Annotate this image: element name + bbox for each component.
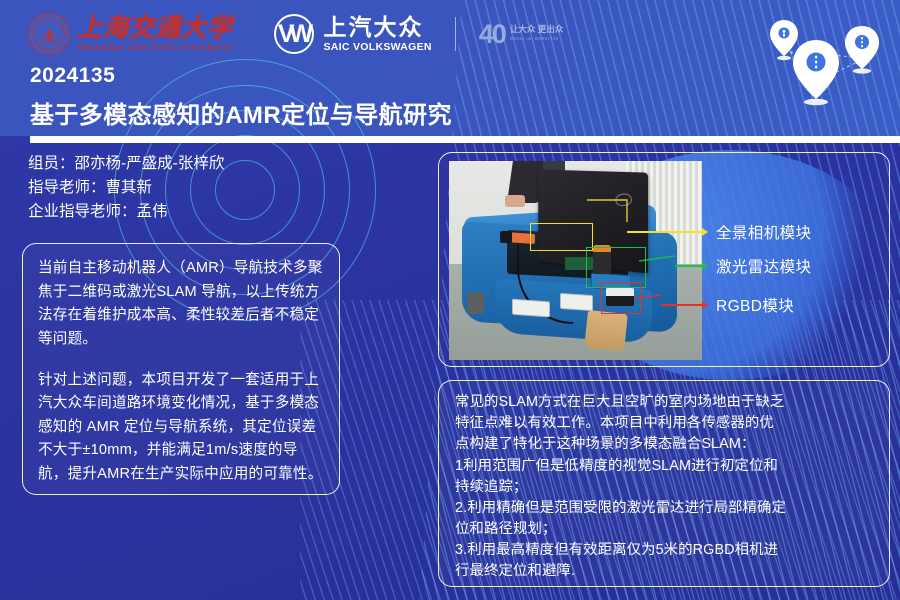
method-text-box: 常见的SLAM方式在巨大且空旷的室内场地由于缺乏 特征点难以有效工作。本项目中利… xyxy=(438,380,890,587)
team-members-block: 组员：邵亦杨-严盛成-张梓欣 指导老师：曹其新 企业指导老师：孟伟 xyxy=(28,152,224,224)
method-line-3: 点构建了特化于这种场景的多模态融合SLAM： xyxy=(455,434,875,455)
map-pin-small-top xyxy=(770,20,798,60)
map-pin-medium-right xyxy=(845,26,879,74)
sjtu-wordmark: 上海交通大学 SHANGHAI JIAO TONG UNIVERSITY xyxy=(77,16,234,51)
sjtu-seal-icon xyxy=(28,13,70,55)
project-title: 基于多模态感知的AMR定位与导航研究 xyxy=(30,95,452,130)
method-line-7: 位和路径规划； xyxy=(455,519,875,540)
arrow-head-green-icon xyxy=(702,262,708,270)
annotation-panoramic-camera: 全景相机模块 xyxy=(627,221,811,243)
header-divider-line xyxy=(30,136,900,143)
sjtu-name-cn: 上海交通大学 xyxy=(77,16,234,41)
panoramic-camera-box xyxy=(530,223,593,251)
vw-name-en: SAIC VOLKSWAGEN xyxy=(323,42,431,53)
members-line-3: 企业指导老师：孟伟 xyxy=(28,200,224,224)
photo-slot-2 xyxy=(560,293,593,311)
photo-person-ankle xyxy=(505,195,525,207)
vw-monogram: VW xyxy=(278,22,308,47)
annotation-rgbd: RGBD模块 xyxy=(661,294,794,316)
arrow-head-yellow-icon xyxy=(702,228,708,236)
photo-slot-1 xyxy=(512,299,550,318)
abstract-paragraph-2: 针对上述问题，本项目开发了一套适用于上汽大众车间道路环境变化情况，基于多模态感知… xyxy=(38,369,325,487)
sjtu-logo: 上海交通大学 SHANGHAI JIAO TONG UNIVERSITY xyxy=(28,13,234,55)
map-pin-large-center xyxy=(793,40,839,105)
poster-canvas: 上海交通大学 SHANGHAI JIAO TONG UNIVERSITY VW … xyxy=(0,0,900,600)
method-line-2: 特征点难以有效工作。本项目中利用各传感器的优 xyxy=(455,413,875,434)
method-line-1: 常见的SLAM方式在巨大且空旷的室内场地由于缺乏 xyxy=(455,392,875,413)
project-number: 2024135 xyxy=(30,64,115,88)
members-line-2: 指导老师：曹其新 xyxy=(28,176,224,200)
photo-wooden-block xyxy=(584,310,628,352)
sjtu-name-en: SHANGHAI JIAO TONG UNIVERSITY xyxy=(77,44,234,51)
photo-wheel xyxy=(467,292,485,314)
amr-robot-photo xyxy=(449,161,702,360)
method-line-8: 3.利用最高精度但有效距离仅为5米的RGBD相机进 xyxy=(455,540,875,561)
saic-vw-logo: VW 上汽大众 SAIC VOLKSWAGEN 40 让大众 更出众 Bette… xyxy=(274,14,563,54)
anniversary-number: 40 xyxy=(479,19,505,50)
method-line-4: 1利用范围广但是低精度的视觉SLAM进行初定位和 xyxy=(455,456,875,477)
vw-wordmark: 上汽大众 SAIC VOLKSWAGEN xyxy=(323,15,431,52)
method-line-6: 2.利用精确但是范围受限的激光雷达进行局部精确定 xyxy=(455,498,875,519)
annotation-label-lidar: 激光雷达模块 xyxy=(716,255,811,277)
logo-divider xyxy=(455,17,456,51)
leader-line-green xyxy=(675,265,703,267)
photo-panoramic-camera xyxy=(500,231,513,243)
rog-logo-icon xyxy=(614,192,633,207)
leader-line-red xyxy=(661,304,703,306)
annotation-label-panoramic-camera: 全景相机模块 xyxy=(716,221,811,243)
arrow-head-red-icon xyxy=(702,301,708,309)
map-pins-decor xyxy=(754,6,894,118)
abstract-paragraph-1: 当前自主移动机器人（AMR）导航技术多聚焦于二维码或激光SLAM 导航，以上传统… xyxy=(38,257,325,352)
anniversary-slogan-cn: 让大众 更出众 xyxy=(510,25,563,35)
photo-panel: 全景相机模块 激光雷达模块 RGBD模块 xyxy=(438,152,890,367)
anniversary-slogan: 让大众 更出众 Better us, Better life xyxy=(510,25,563,42)
logo-row: 上海交通大学 SHANGHAI JIAO TONG UNIVERSITY VW … xyxy=(28,8,563,60)
anniversary-slogan-en: Better us, Better life xyxy=(510,37,563,43)
abstract-text-box: 当前自主移动机器人（AMR）导航技术多聚焦于二维码或激光SLAM 导航，以上传统… xyxy=(22,243,340,495)
rgbd-box xyxy=(601,282,641,314)
paragraph-gap xyxy=(38,352,325,369)
vw-name-cn: 上汽大众 xyxy=(323,15,431,39)
annotation-label-rgbd: RGBD模块 xyxy=(716,294,794,316)
anniversary-logo: 40 让大众 更出众 Better us, Better life xyxy=(479,19,563,50)
leader-line-yellow xyxy=(627,231,703,233)
members-line-1: 组员：邵亦杨-严盛成-张梓欣 xyxy=(28,152,224,176)
annotation-lidar: 激光雷达模块 xyxy=(675,255,811,277)
vw-roundel-icon: VW xyxy=(274,14,314,54)
method-line-9: 行最终定位和避障. xyxy=(455,561,875,582)
method-line-5: 持续追踪； xyxy=(455,477,875,498)
